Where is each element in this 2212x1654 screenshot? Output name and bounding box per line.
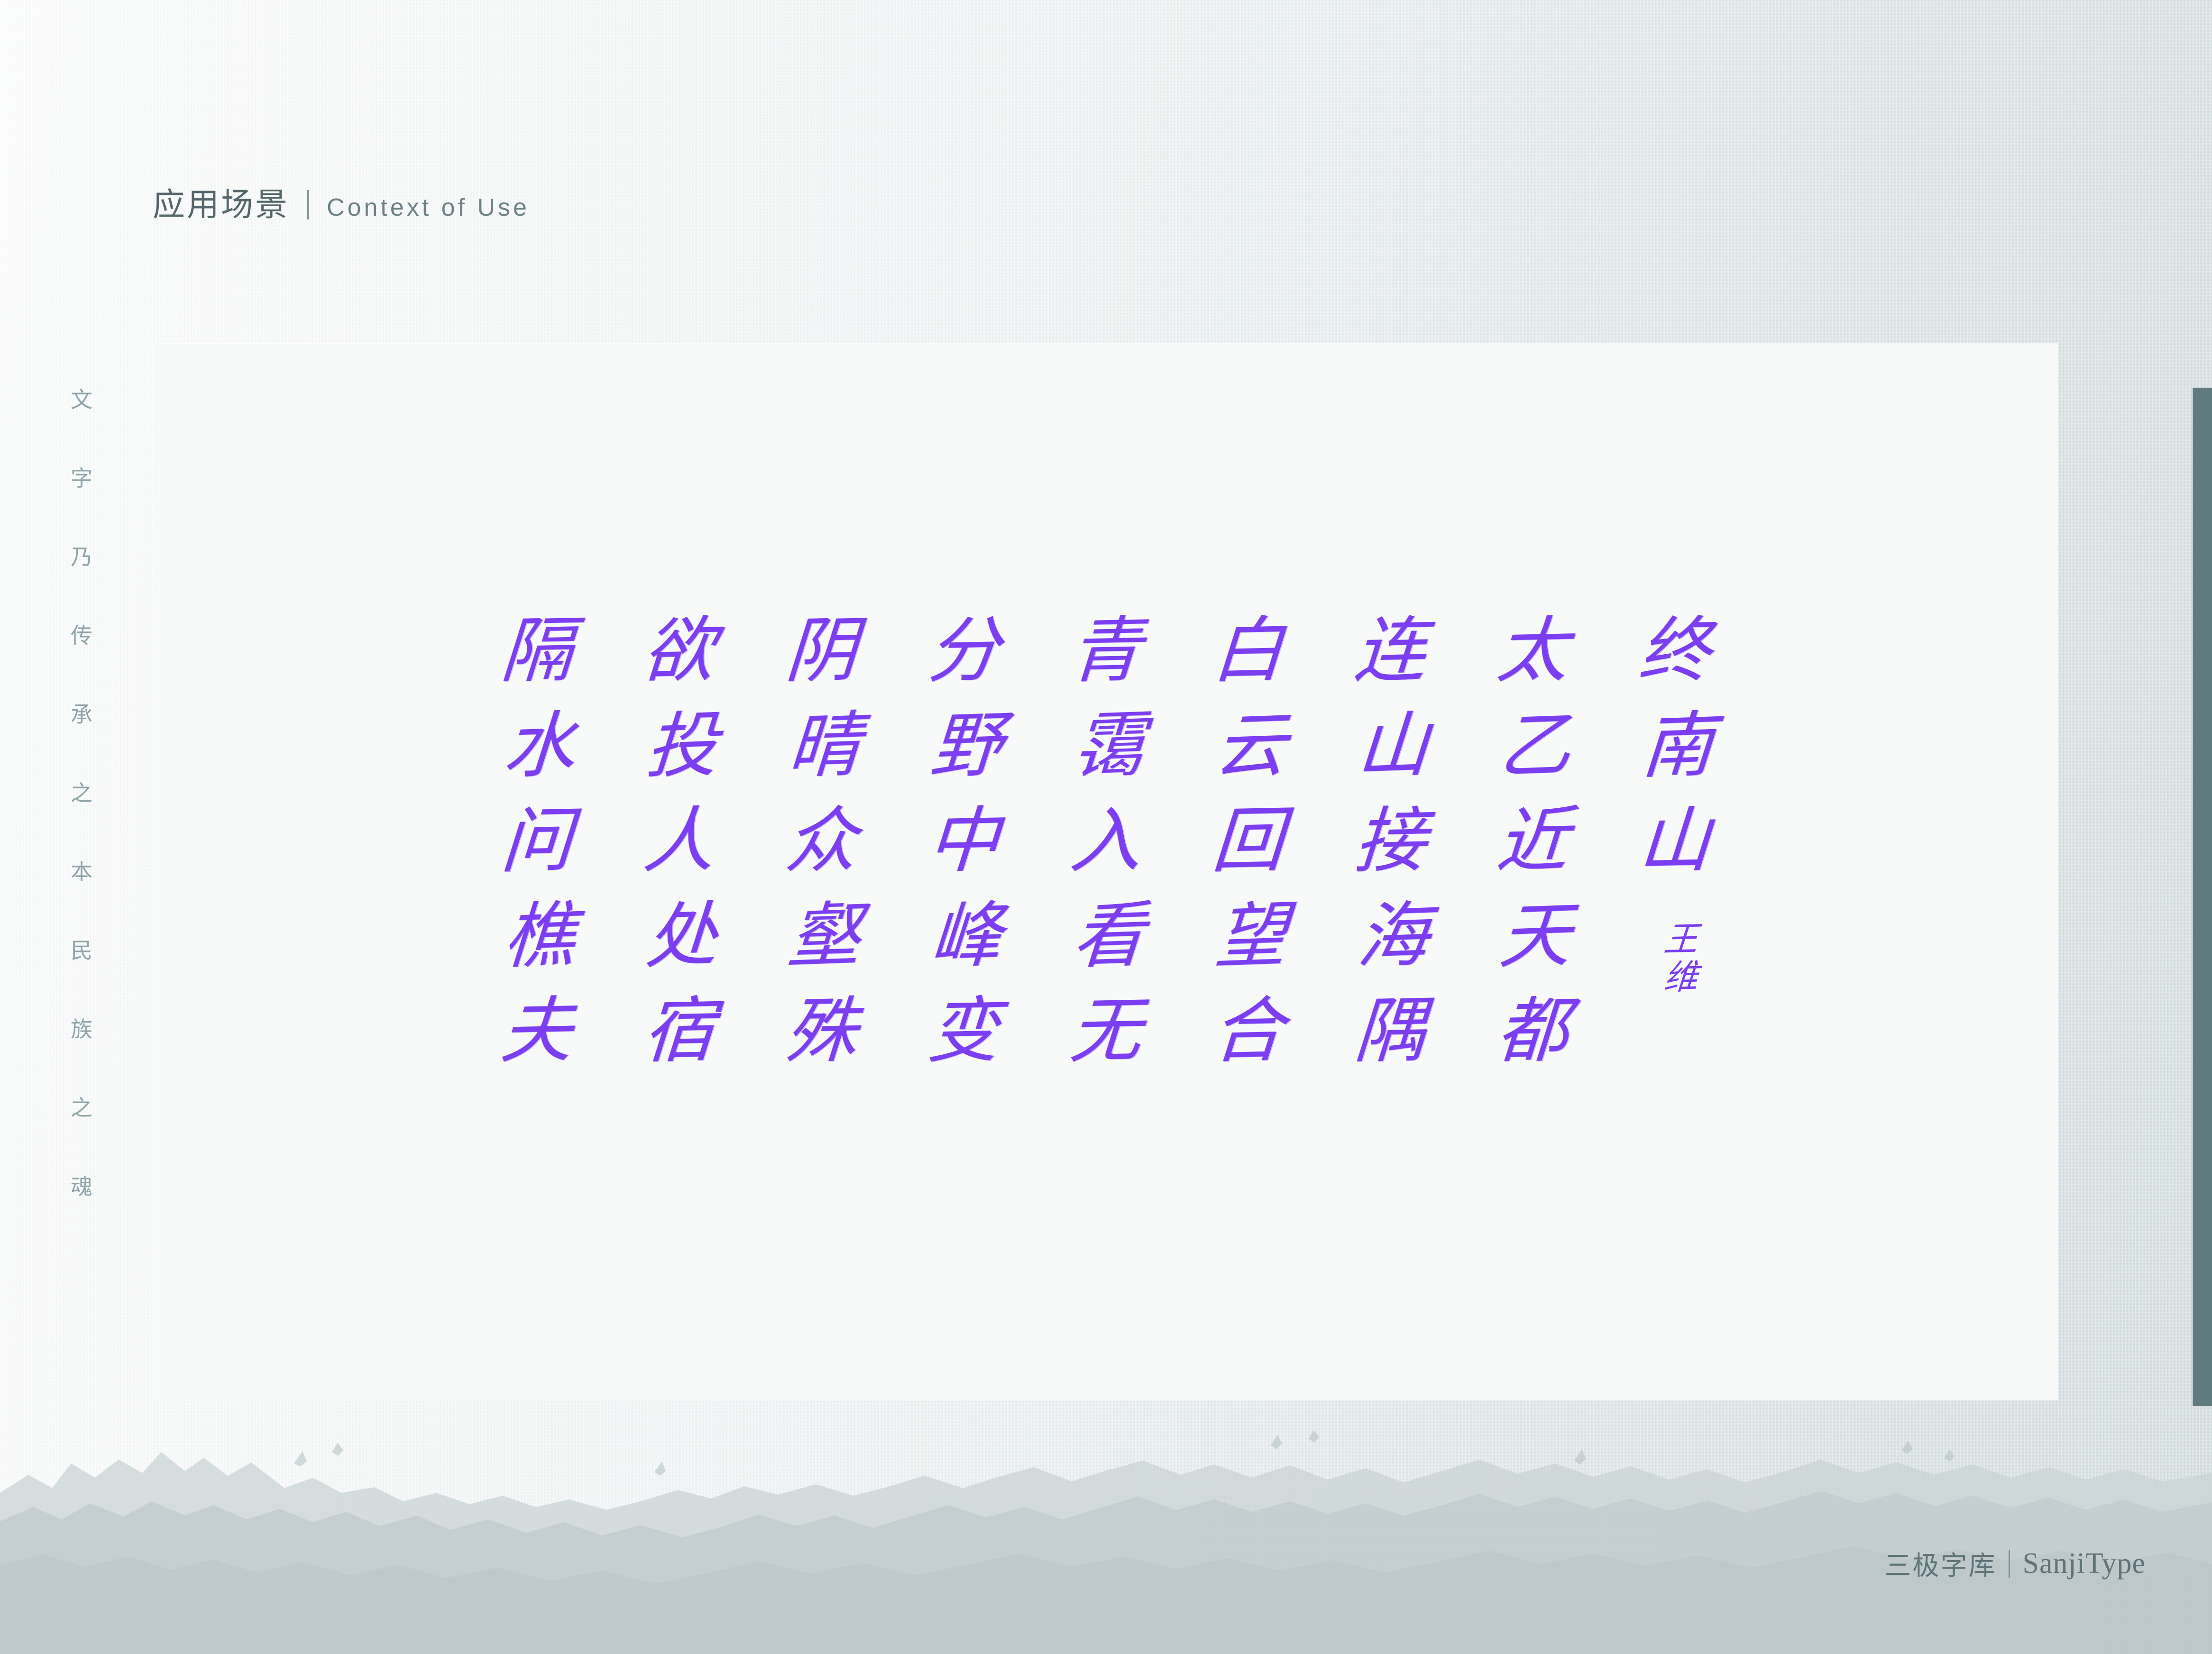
slogan-char: 字	[71, 467, 92, 489]
poem-author: 王 维	[1664, 921, 1698, 997]
poem-char: 夫	[499, 996, 575, 1068]
poem-char: 欲	[641, 615, 717, 687]
poem-char: 中	[926, 805, 1001, 877]
page-header: 应用场景 Context of Use	[153, 178, 530, 225]
slogan-char: 传	[71, 625, 92, 647]
poem-char: 乙	[1497, 710, 1574, 783]
poem-char: 入	[1068, 805, 1144, 877]
poem-column-5: 分 野 中 峰 变	[893, 616, 1035, 1067]
poem-char: 水	[502, 710, 578, 783]
poem-char: 回	[1210, 805, 1286, 877]
page-title-en: Context of Use	[327, 193, 530, 222]
poem-char: 山	[1637, 805, 1713, 877]
ink-wash-layer-back	[0, 1452, 2212, 1654]
slogan-char: 之	[71, 782, 92, 804]
poem-column-1: 太 乙 近 天 都	[1462, 616, 1604, 1067]
poem-char: 峰	[928, 900, 1005, 973]
poem-char: 宿	[641, 996, 717, 1068]
poem-char: 投	[644, 710, 720, 783]
poem-column-8: 隔 水 问 樵 夫	[466, 616, 608, 1067]
brand-divider	[2009, 1550, 2010, 1578]
slogan-char: 魂	[71, 1176, 92, 1197]
ink-splatter-specks	[294, 1430, 1955, 1476]
poem-char: 海	[1355, 900, 1432, 973]
poem-char: 南	[1640, 710, 1716, 783]
poem-char: 壑	[786, 900, 863, 973]
poem-column-2: 连 山 接 海 隅	[1320, 616, 1462, 1067]
poem-column-4: 青 霭 入 看 无	[1035, 616, 1177, 1067]
slogan-char: 之	[71, 1097, 92, 1119]
scrollbar-thumb[interactable]	[2193, 388, 2212, 1406]
side-slogan: 文 字 乃 传 承 之 本 民 族 之 魂	[66, 389, 97, 1197]
slide-canvas: 应用场景 Context of Use 文 字 乃 传 承 之 本 民 族 之 …	[0, 0, 2212, 1654]
poem-column-6: 阴 晴 众 壑 殊	[751, 616, 893, 1067]
brand-name-en: SanjiType	[2022, 1547, 2146, 1581]
scrollbar-track[interactable]	[2193, 0, 2212, 1654]
author-char: 王	[1662, 920, 1700, 959]
slogan-char: 民	[71, 940, 92, 961]
poem-char: 殊	[783, 996, 859, 1068]
ink-wash-layer-front	[0, 1546, 2212, 1654]
slogan-char: 族	[71, 1018, 92, 1040]
slogan-char: 本	[71, 861, 92, 883]
poem-char: 山	[1355, 710, 1432, 783]
poem-char: 处	[644, 900, 720, 973]
poem-char: 接	[1352, 805, 1428, 877]
poem-char: 人	[641, 805, 717, 877]
page-title-cn: 应用场景	[153, 178, 289, 225]
ink-wash-layer-mid	[0, 1491, 2212, 1654]
poem-char: 阴	[783, 615, 859, 687]
slogan-char: 承	[71, 704, 92, 725]
footer-brand: 三极字库 SanjiType	[1884, 1544, 2146, 1583]
header-divider	[307, 190, 309, 219]
poem-char: 野	[928, 710, 1005, 783]
poem-char: 晴	[786, 710, 863, 783]
poem-char: 隔	[499, 615, 575, 687]
poem-char: 望	[1213, 900, 1289, 973]
poem-char: 白	[1210, 615, 1286, 687]
poem-block: 终 南 山 王 维 太 乙 近 天 都 连 山 接 海 隅	[154, 344, 2058, 1400]
author-char: 维	[1662, 958, 1700, 997]
brand-name-cn: 三极字库	[1884, 1544, 1996, 1583]
poem-char: 天	[1497, 900, 1574, 973]
specimen-card: 终 南 山 王 维 太 乙 近 天 都 连 山 接 海 隅	[154, 344, 2058, 1400]
poem-column-7: 欲 投 人 处 宿	[608, 616, 751, 1067]
poem-char: 终	[1637, 615, 1713, 687]
poem-char: 青	[1068, 615, 1144, 687]
poem-char: 连	[1352, 615, 1428, 687]
poem-char: 太	[1495, 615, 1570, 687]
poem-char: 问	[499, 805, 575, 877]
poem-char: 霭	[1071, 710, 1147, 783]
poem-char: 无	[1068, 996, 1144, 1068]
slogan-char: 文	[71, 389, 92, 411]
poem-char: 樵	[502, 900, 578, 973]
poem-char: 近	[1495, 805, 1570, 877]
poem-column-3: 白 云 回 望 合	[1177, 616, 1320, 1067]
poem-char: 合	[1210, 996, 1286, 1068]
poem-char: 云	[1213, 710, 1289, 783]
poem-char: 分	[926, 615, 1001, 687]
poem-char: 都	[1495, 996, 1570, 1068]
poem-char: 隅	[1352, 996, 1428, 1068]
poem-char: 众	[783, 805, 859, 877]
poem-char: 变	[926, 996, 1001, 1068]
poem-column-title: 终 南 山 王 维	[1604, 616, 1746, 997]
slogan-char: 乃	[71, 546, 92, 568]
poem-char: 看	[1071, 900, 1147, 973]
